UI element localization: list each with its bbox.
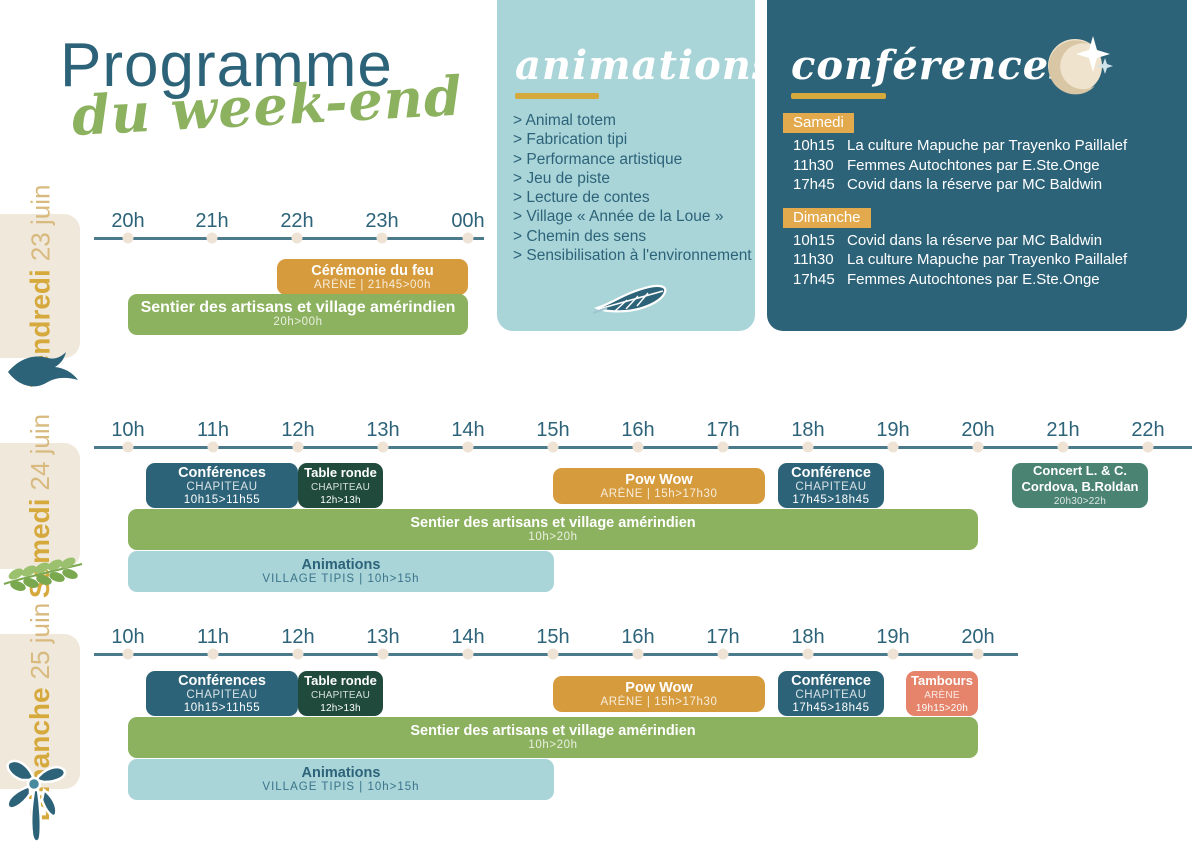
timeline-dot bbox=[463, 649, 474, 660]
tick-label: 13h bbox=[366, 419, 399, 442]
tick-label: 21h bbox=[195, 210, 228, 233]
event-bar[interactable]: Pow Wow ARÈNE | 15h>17h30 bbox=[553, 676, 765, 712]
event-subtitle: ARÈNE | 15h>17h30 bbox=[600, 696, 717, 709]
event-title: Table ronde bbox=[304, 673, 377, 689]
conference-time: 11h30 bbox=[793, 250, 847, 270]
event-title: Conférence bbox=[791, 465, 871, 481]
event-bar[interactable]: Animations VILLAGE TIPIS | 10h>15h bbox=[128, 551, 554, 592]
timeline-dot bbox=[123, 649, 134, 660]
event-subtitle: ARÈNE bbox=[924, 689, 959, 702]
conference-day-tag: Samedi bbox=[783, 113, 854, 133]
event-subtitle: CHAPITEAU bbox=[795, 689, 866, 702]
animations-heading: animations bbox=[515, 42, 755, 89]
conferences-heading-rule bbox=[791, 93, 886, 99]
list-item: > Village « Année de la Loue » bbox=[513, 207, 755, 226]
tick-label: 18h bbox=[791, 419, 824, 442]
tick-label: 10h bbox=[111, 626, 144, 649]
day-date: 25 juin bbox=[25, 602, 56, 679]
event-title: Animations bbox=[302, 557, 381, 573]
event-time: 10h15>11h55 bbox=[184, 494, 260, 507]
conference-time: 11h30 bbox=[793, 156, 847, 176]
conference-row: 10h15La culture Mapuche par Trayenko Pai… bbox=[793, 136, 1187, 156]
timeline-dot bbox=[803, 442, 814, 453]
event-time: 12h>13h bbox=[320, 702, 361, 715]
bird-icon bbox=[6, 350, 84, 397]
day-date: 24 juin bbox=[25, 414, 56, 491]
timeline-dot bbox=[718, 442, 729, 453]
timeline-dot bbox=[208, 649, 219, 660]
event-bar[interactable]: Animations VILLAGE TIPIS | 10h>15h bbox=[128, 759, 554, 800]
day-date: 23 juin bbox=[25, 185, 56, 262]
event-title: Pow Wow bbox=[625, 680, 692, 696]
timeline-dot bbox=[463, 442, 474, 453]
tick-label: 15h bbox=[536, 419, 569, 442]
timeline-dot bbox=[973, 442, 984, 453]
timeline-dot bbox=[293, 649, 304, 660]
tick-label: 20h bbox=[111, 210, 144, 233]
tick-label: 16h bbox=[621, 626, 654, 649]
tick-label: 22h bbox=[280, 210, 313, 233]
timeline-dot bbox=[548, 442, 559, 453]
event-title: Cérémonie du feu bbox=[311, 263, 433, 279]
event-subtitle: CHAPITEAU bbox=[311, 689, 370, 702]
tick-label: 19h bbox=[876, 419, 909, 442]
timeline-dot bbox=[888, 649, 899, 660]
conference-time: 17h45 bbox=[793, 175, 847, 195]
event-time: 19h15>20h bbox=[916, 702, 968, 715]
event-subtitle: 10h>20h bbox=[528, 531, 577, 544]
event-bar[interactable]: Sentier des artisans et village amérindi… bbox=[128, 509, 978, 550]
event-time: 17h45>18h45 bbox=[792, 702, 869, 715]
event-subtitle: VILLAGE TIPIS | 10h>15h bbox=[262, 781, 419, 794]
timeline-axis bbox=[94, 237, 484, 240]
event-subtitle: CHAPITEAU bbox=[186, 481, 257, 494]
timeline-dot bbox=[207, 233, 218, 244]
timeline-dot bbox=[888, 442, 899, 453]
event-bar[interactable]: Tambours ARÈNE 19h15>20h bbox=[906, 671, 978, 716]
timeline-dot bbox=[377, 233, 388, 244]
timeline-dot bbox=[973, 649, 984, 660]
conference-text: Covid dans la réserve par MC Baldwin bbox=[847, 176, 1102, 193]
tick-label: 20h bbox=[961, 419, 994, 442]
event-subtitle: 20h>00h bbox=[273, 316, 322, 329]
conference-text: Femmes Autochtones par E.Ste.Onge bbox=[847, 157, 1100, 174]
tick-label: 17h bbox=[706, 419, 739, 442]
conference-row: 11h30La culture Mapuche par Trayenko Pai… bbox=[793, 250, 1187, 270]
conference-text: La culture Mapuche par Trayenko Paillale… bbox=[847, 137, 1127, 154]
timeline-dot bbox=[292, 233, 303, 244]
event-title: Table ronde bbox=[304, 465, 377, 481]
event-bar[interactable]: Conférence CHAPITEAU 17h45>18h45 bbox=[778, 671, 884, 716]
event-title: Conférences bbox=[178, 673, 266, 689]
tick-label: 13h bbox=[366, 626, 399, 649]
conferences-panel: conférences Samedi 10h15La culture Mapuc… bbox=[767, 0, 1187, 331]
tick-label: 20h bbox=[961, 626, 994, 649]
list-item: > Performance artistique bbox=[513, 150, 755, 169]
event-subtitle: ARÈNE | 21h45>00h bbox=[314, 279, 431, 292]
event-title: Tambours bbox=[911, 673, 973, 689]
tick-label: 16h bbox=[621, 419, 654, 442]
event-time: 10h15>11h55 bbox=[184, 702, 260, 715]
conference-row: 11h30Femmes Autochtones par E.Ste.Onge bbox=[793, 156, 1187, 176]
conference-text: La culture Mapuche par Trayenko Paillale… bbox=[847, 251, 1127, 268]
tick-label: 12h bbox=[281, 626, 314, 649]
conference-group-samedi: Samedi 10h15La culture Mapuche par Traye… bbox=[767, 113, 1187, 195]
event-bar[interactable]: Conférences CHAPITEAU 10h15>11h55 bbox=[146, 463, 298, 508]
timeline-dot bbox=[293, 442, 304, 453]
event-subtitle: VILLAGE TIPIS | 10h>15h bbox=[262, 573, 419, 586]
tick-label: 00h bbox=[451, 210, 484, 233]
moon-star-icon bbox=[1041, 34, 1113, 101]
conference-time: 17h45 bbox=[793, 270, 847, 290]
event-bar[interactable]: Cérémonie du feu ARÈNE | 21h45>00h bbox=[277, 259, 468, 295]
list-item: > Jeu de piste bbox=[513, 169, 755, 188]
tick-label: 17h bbox=[706, 626, 739, 649]
event-title: Sentier des artisans et village amérindi… bbox=[410, 723, 695, 739]
timeline-dot bbox=[378, 442, 389, 453]
list-item: > Lecture de contes bbox=[513, 188, 755, 207]
timeline-dot bbox=[548, 649, 559, 660]
conference-row: 10h15Covid dans la réserve par MC Baldwi… bbox=[793, 231, 1187, 251]
conference-group-dimanche: Dimanche 10h15Covid dans la réserve par … bbox=[767, 208, 1187, 290]
timeline-dot bbox=[123, 233, 134, 244]
conference-time: 10h15 bbox=[793, 136, 847, 156]
feather-icon bbox=[593, 282, 669, 321]
event-title-line2: Cordova, B.Roldan bbox=[1021, 479, 1138, 495]
timeline-dot bbox=[1143, 442, 1154, 453]
animations-heading-rule bbox=[515, 93, 599, 99]
tick-label: 23h bbox=[365, 210, 398, 233]
day-tab-samedi: Samedi 24 juin bbox=[0, 443, 80, 569]
tick-label: 14h bbox=[451, 419, 484, 442]
conference-row: 17h45Covid dans la réserve par MC Baldwi… bbox=[793, 175, 1187, 195]
event-subtitle: ARÈNE | 15h>17h30 bbox=[600, 488, 717, 501]
leaf-branch-icon bbox=[2, 556, 86, 597]
event-title: Animations bbox=[302, 765, 381, 781]
tick-label: 14h bbox=[451, 626, 484, 649]
event-title: Sentier des artisans et village amérindi… bbox=[141, 300, 456, 316]
page-title: Programme du week-end bbox=[60, 34, 463, 142]
timeline-dot bbox=[378, 649, 389, 660]
conference-text: Covid dans la réserve par MC Baldwin bbox=[847, 232, 1102, 249]
title-line-2: du week-end bbox=[71, 70, 464, 142]
tick-label: 22h bbox=[1131, 419, 1164, 442]
list-item: > Chemin des sens bbox=[513, 227, 755, 246]
list-item: > Fabrication tipi bbox=[513, 130, 755, 149]
dreamcatcher-icon bbox=[0, 756, 70, 846]
conferences-heading: conférences bbox=[791, 42, 1187, 89]
animations-panel: animations > Animal totem > Fabrication … bbox=[497, 0, 755, 331]
tick-label: 19h bbox=[876, 626, 909, 649]
event-bar[interactable]: Conférences CHAPITEAU 10h15>11h55 bbox=[146, 671, 298, 716]
event-bar[interactable]: Sentier des artisans et village amérindi… bbox=[128, 717, 978, 758]
tick-label: 11h bbox=[197, 626, 229, 649]
tick-label: 10h bbox=[111, 419, 144, 442]
timeline-dot bbox=[718, 649, 729, 660]
event-time: 12h>13h bbox=[320, 494, 361, 507]
event-subtitle: 10h>20h bbox=[528, 739, 577, 752]
event-bar[interactable]: Pow Wow ARÈNE | 15h>17h30 bbox=[553, 468, 765, 504]
day-tab-vendredi: Vendredi 23 juin bbox=[0, 214, 80, 358]
event-bar[interactable]: Sentier des artisans et village amérindi… bbox=[128, 294, 468, 335]
timeline-dot bbox=[463, 233, 474, 244]
event-bar[interactable]: Table ronde CHAPITEAU 12h>13h bbox=[298, 463, 383, 508]
timeline-dot bbox=[803, 649, 814, 660]
timeline-dot bbox=[1058, 442, 1069, 453]
animations-list: > Animal totem > Fabrication tipi > Perf… bbox=[513, 111, 755, 265]
conference-day-tag: Dimanche bbox=[783, 208, 871, 228]
event-subtitle: CHAPITEAU bbox=[186, 689, 257, 702]
conference-time: 10h15 bbox=[793, 231, 847, 251]
event-subtitle: 20h30>22h bbox=[1054, 495, 1106, 508]
event-title: Conférences bbox=[178, 465, 266, 481]
event-subtitle: CHAPITEAU bbox=[795, 481, 866, 494]
timeline-dot bbox=[633, 442, 644, 453]
event-bar[interactable]: Table ronde CHAPITEAU 12h>13h bbox=[298, 671, 383, 716]
event-title: Pow Wow bbox=[625, 472, 692, 488]
event-title: Concert L. & C. bbox=[1033, 463, 1127, 479]
list-item: > Animal totem bbox=[513, 111, 755, 130]
tick-label: 18h bbox=[791, 626, 824, 649]
tick-label: 21h bbox=[1046, 419, 1079, 442]
tick-label: 11h bbox=[197, 419, 229, 442]
conference-text: Femmes Autochtones par E.Ste.Onge bbox=[847, 271, 1100, 288]
timeline-dot bbox=[123, 442, 134, 453]
timeline-dot bbox=[633, 649, 644, 660]
tick-label: 12h bbox=[281, 419, 314, 442]
event-bar[interactable]: Concert L. & C. Cordova, B.Roldan 20h30>… bbox=[1012, 463, 1148, 508]
event-bar[interactable]: Conférence CHAPITEAU 17h45>18h45 bbox=[778, 463, 884, 508]
list-item: > Sensibilisation à l'environnement bbox=[513, 246, 755, 265]
timeline-dot bbox=[208, 442, 219, 453]
event-title: Conférence bbox=[791, 673, 871, 689]
conference-row: 17h45Femmes Autochtones par E.Ste.Onge bbox=[793, 270, 1187, 290]
tick-label: 15h bbox=[536, 626, 569, 649]
event-title: Sentier des artisans et village amérindi… bbox=[410, 515, 695, 531]
event-subtitle: CHAPITEAU bbox=[311, 481, 370, 494]
event-time: 17h45>18h45 bbox=[792, 494, 869, 507]
